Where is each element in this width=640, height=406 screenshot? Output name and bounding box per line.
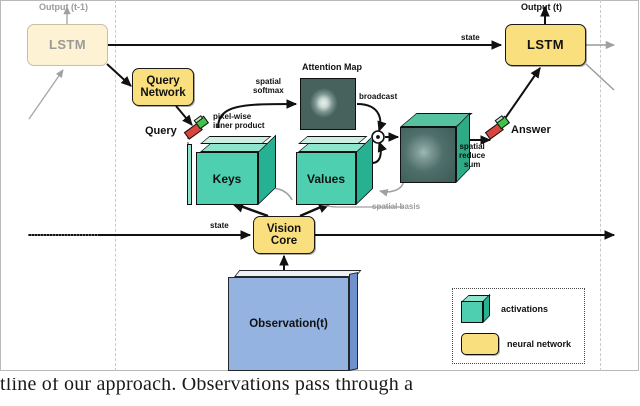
- query-network-node[interactable]: Query Network: [132, 68, 194, 106]
- label-spatial-softmax: spatial softmax: [253, 77, 284, 95]
- legend-activations-cube: [461, 295, 491, 323]
- label-output-current: Output (t): [521, 2, 562, 12]
- values-front-face: Values: [296, 152, 356, 205]
- legend-row-neural-network: neural network: [461, 333, 571, 355]
- diagram-canvas: LSTM LSTM Query Network Vision Core Obse…: [0, 0, 640, 406]
- label-broadcast: broadcast: [359, 92, 397, 101]
- lstm-node-current[interactable]: LSTM: [505, 24, 586, 66]
- label-output-previous: Output (t-1): [39, 2, 88, 12]
- lstm-node-previous[interactable]: LSTM: [27, 24, 108, 66]
- observation-block[interactable]: Observation(t): [228, 270, 358, 371]
- keys-front-face: Keys: [196, 152, 258, 205]
- label-state-top: state: [461, 33, 480, 42]
- product-cube-front-face: [400, 127, 456, 183]
- legend-label-activations: activations: [501, 304, 548, 314]
- figure-caption-text: tline of our approach. Observations pass…: [0, 378, 640, 396]
- label-spatial-basis: spatial basis: [372, 202, 420, 211]
- keys-back-edge: [187, 144, 192, 205]
- legend-box: activations neural network: [452, 288, 585, 364]
- legend-cube-front-face: [461, 301, 483, 323]
- figure-caption-clipped: tline of our approach. Observations pass…: [0, 378, 640, 406]
- attention-map-image: [300, 78, 356, 130]
- legend-row-activations: activations: [461, 295, 548, 323]
- label-state-bottom: state: [210, 221, 229, 230]
- label-spatial-reduce-sum: spatial reduce sum: [459, 142, 485, 170]
- legend-cube-side-face: [483, 294, 490, 323]
- label-pixel-wise-inner-product: pixel-wise inner product: [213, 112, 265, 130]
- vision-core-node[interactable]: Vision Core: [253, 216, 315, 254]
- observation-side-face: [349, 272, 358, 371]
- observation-label: Observation(t): [228, 277, 349, 371]
- observation-top-face: [234, 270, 361, 277]
- label-answer: Answer: [511, 124, 551, 137]
- legend-label-neural-network: neural network: [507, 339, 571, 349]
- keys-cube[interactable]: Keys: [196, 130, 280, 205]
- label-attention-map: Attention Map: [302, 62, 362, 72]
- values-cube[interactable]: Values: [296, 130, 372, 205]
- legend-neural-network-box: [461, 333, 499, 355]
- label-query: Query: [145, 125, 177, 138]
